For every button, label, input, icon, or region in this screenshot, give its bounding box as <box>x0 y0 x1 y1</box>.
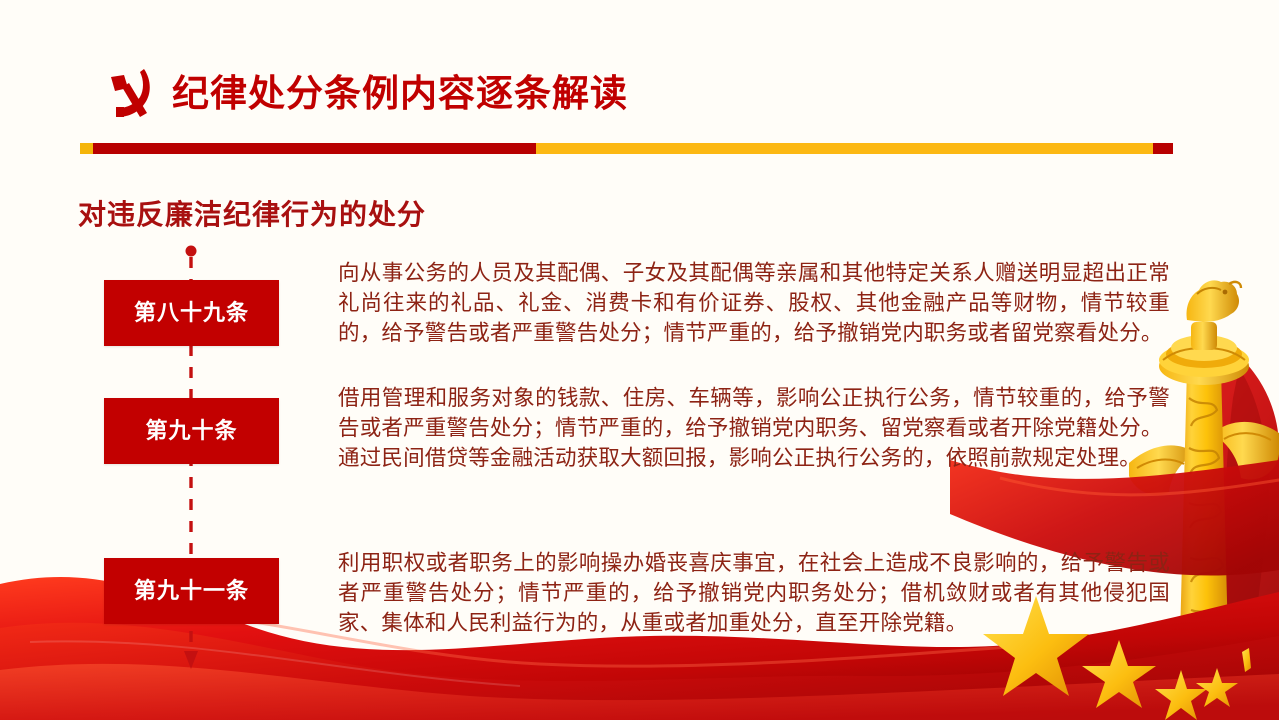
article-label-chip[interactable]: 第九十一条 <box>104 558 279 624</box>
article-paragraph: 利用职权或者职务上的影响操办婚丧喜庆事宜，在社会上造成不良影响的，给予警告或者严… <box>338 548 1170 638</box>
article-body: 借用管理和服务对象的钱款、住房、车辆等，影响公正执行公务，情节较重的，给予警告或… <box>338 383 1170 473</box>
article-body: 利用职权或者职务上的影响操办婚丧喜庆事宜，在社会上造成不良影响的，给予警告或者严… <box>338 548 1170 638</box>
article-body: 向从事公务的人员及其配偶、子女及其配偶等亲属和其他特定关系人赠送明显超出正常礼尚… <box>338 258 1170 348</box>
article-paragraph: 借用管理和服务对象的钱款、住房、车辆等，影响公正执行公务，情节较重的，给予警告或… <box>338 383 1170 443</box>
article-paragraph: 通过民间借贷等金融活动获取大额回报，影响公正执行公务的，依照前款规定处理。 <box>338 443 1170 473</box>
article-label-chip[interactable]: 第九十条 <box>104 398 279 464</box>
article-label-chip[interactable]: 第八十九条 <box>104 280 279 346</box>
article-list: 第八十九条 向从事公务的人员及其配偶、子女及其配偶等亲属和其他特定关系人赠送明显… <box>0 0 1279 720</box>
slide-canvas: 纪律处分条例内容逐条解读 对违反廉洁纪律行为的处分 第八十九条 向从事公务的人员… <box>0 0 1279 720</box>
article-paragraph: 向从事公务的人员及其配偶、子女及其配偶等亲属和其他特定关系人赠送明显超出正常礼尚… <box>338 258 1170 348</box>
